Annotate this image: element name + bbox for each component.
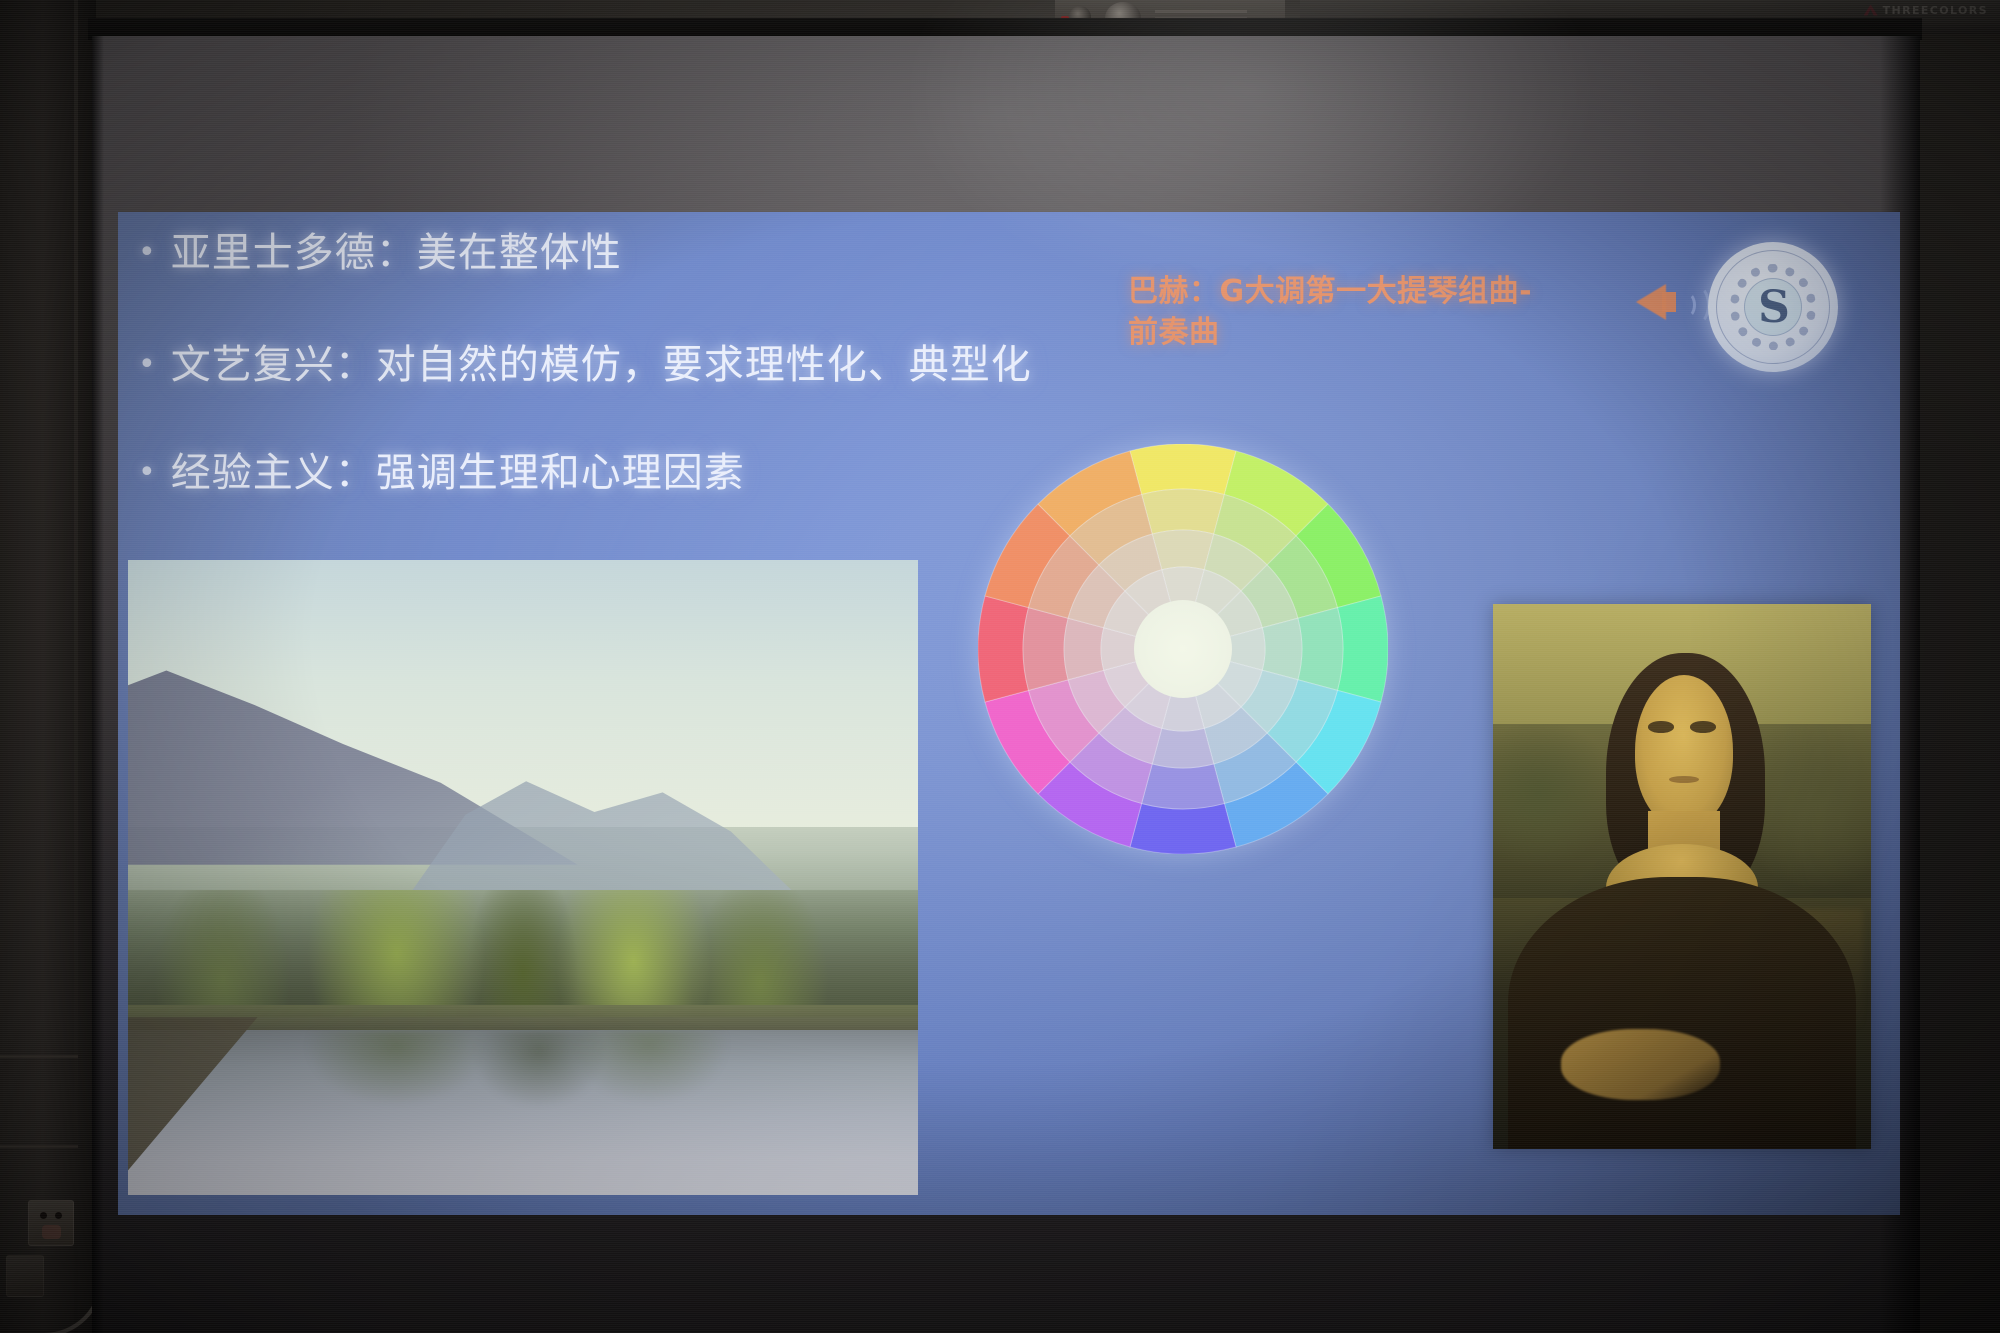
presentation-slide: • 亚里士多德：美在整体性 • 文艺复兴：对自然的模仿，要求理性化、典型化 • … [118, 212, 1900, 1215]
music-credit-text: 巴赫：G大调第一大提琴组曲- 前奏曲 [1128, 272, 1583, 353]
classroom-photo-scene: THREECOLORS • 亚里士多德：美在整体性 • 文艺复兴：对自然的模仿，… [0, 0, 2000, 1333]
mona-lisa-hands [1561, 1029, 1720, 1100]
outlet-hole-icon [55, 1212, 62, 1219]
wall-tile-seam [0, 1055, 78, 1058]
bullet-marker-icon: • [138, 230, 157, 275]
color-wheel-sector [978, 596, 1029, 702]
mona-lisa-eye-left [1648, 721, 1674, 732]
speaker-icon[interactable] [1636, 272, 1698, 332]
color-wheel-sector [1064, 618, 1104, 680]
color-wheel-sector [1142, 764, 1225, 809]
bullet-marker-icon: • [138, 342, 157, 387]
landscape-lake-photo [128, 560, 918, 1195]
color-wheel-sector [1298, 608, 1343, 691]
university-seal-logo: S [1708, 242, 1838, 372]
wall-plate [6, 1255, 44, 1297]
color-wheel-sector [1023, 608, 1068, 691]
color-wheel-disc [978, 444, 1388, 854]
bullet-text-3: 经验主义：强调生理和心理因素 [171, 450, 745, 497]
mona-lisa-dress [1508, 877, 1856, 1150]
rail-brand-text: THREECOLORS [1883, 4, 1988, 17]
bullet-text-1: 亚里士多德：美在整体性 [171, 230, 622, 277]
bullet-item-2: • 文艺复兴：对自然的模仿，要求理性化、典型化 [138, 342, 1032, 389]
bullet-marker-icon: • [138, 450, 157, 495]
rail-brand-logo: THREECOLORS [1864, 2, 1988, 18]
color-wheel-sector [1130, 803, 1236, 854]
wall-seam [74, 0, 78, 1333]
outlet-plug-icon [42, 1225, 61, 1239]
color-wheel-center [1134, 600, 1232, 698]
mona-lisa-face [1635, 675, 1733, 828]
music-credit-line-1: 巴赫：G大调第一大提琴组曲- [1128, 272, 1583, 313]
color-wheel-sector [1130, 444, 1236, 495]
landscape-treeline [128, 890, 918, 1017]
color-wheel-sector [1152, 530, 1214, 570]
landscape-water-reflection [128, 1030, 918, 1113]
color-wheel-sector [1142, 489, 1225, 534]
color-wheel [978, 444, 1388, 854]
speaker-body-shape [1662, 292, 1676, 312]
power-outlet[interactable] [28, 1200, 74, 1246]
bullet-text-2: 文艺复兴：对自然的模仿，要求理性化、典型化 [171, 342, 1032, 389]
color-wheel-sector [1152, 728, 1214, 768]
speaker-wave-icon [1684, 285, 1710, 325]
color-wheel-sector [1337, 596, 1388, 702]
brand-mark-icon [1864, 5, 1878, 16]
screen-left-shadow [92, 36, 104, 1333]
projector-vent [1155, 10, 1247, 13]
mona-lisa-painting [1493, 604, 1871, 1149]
bullet-item-3: • 经验主义：强调生理和心理因素 [138, 450, 745, 497]
bullet-item-1: • 亚里士多德：美在整体性 [138, 230, 622, 277]
wall-tile-seam [0, 1145, 78, 1148]
left-wall-panel [0, 0, 96, 1333]
mona-lisa-eye-right [1690, 721, 1716, 732]
seal-emblem-letter: S [1754, 278, 1794, 336]
color-wheel-sector [1262, 618, 1302, 680]
outlet-hole-icon [40, 1212, 47, 1219]
music-credit-line-2: 前奏曲 [1128, 313, 1583, 354]
